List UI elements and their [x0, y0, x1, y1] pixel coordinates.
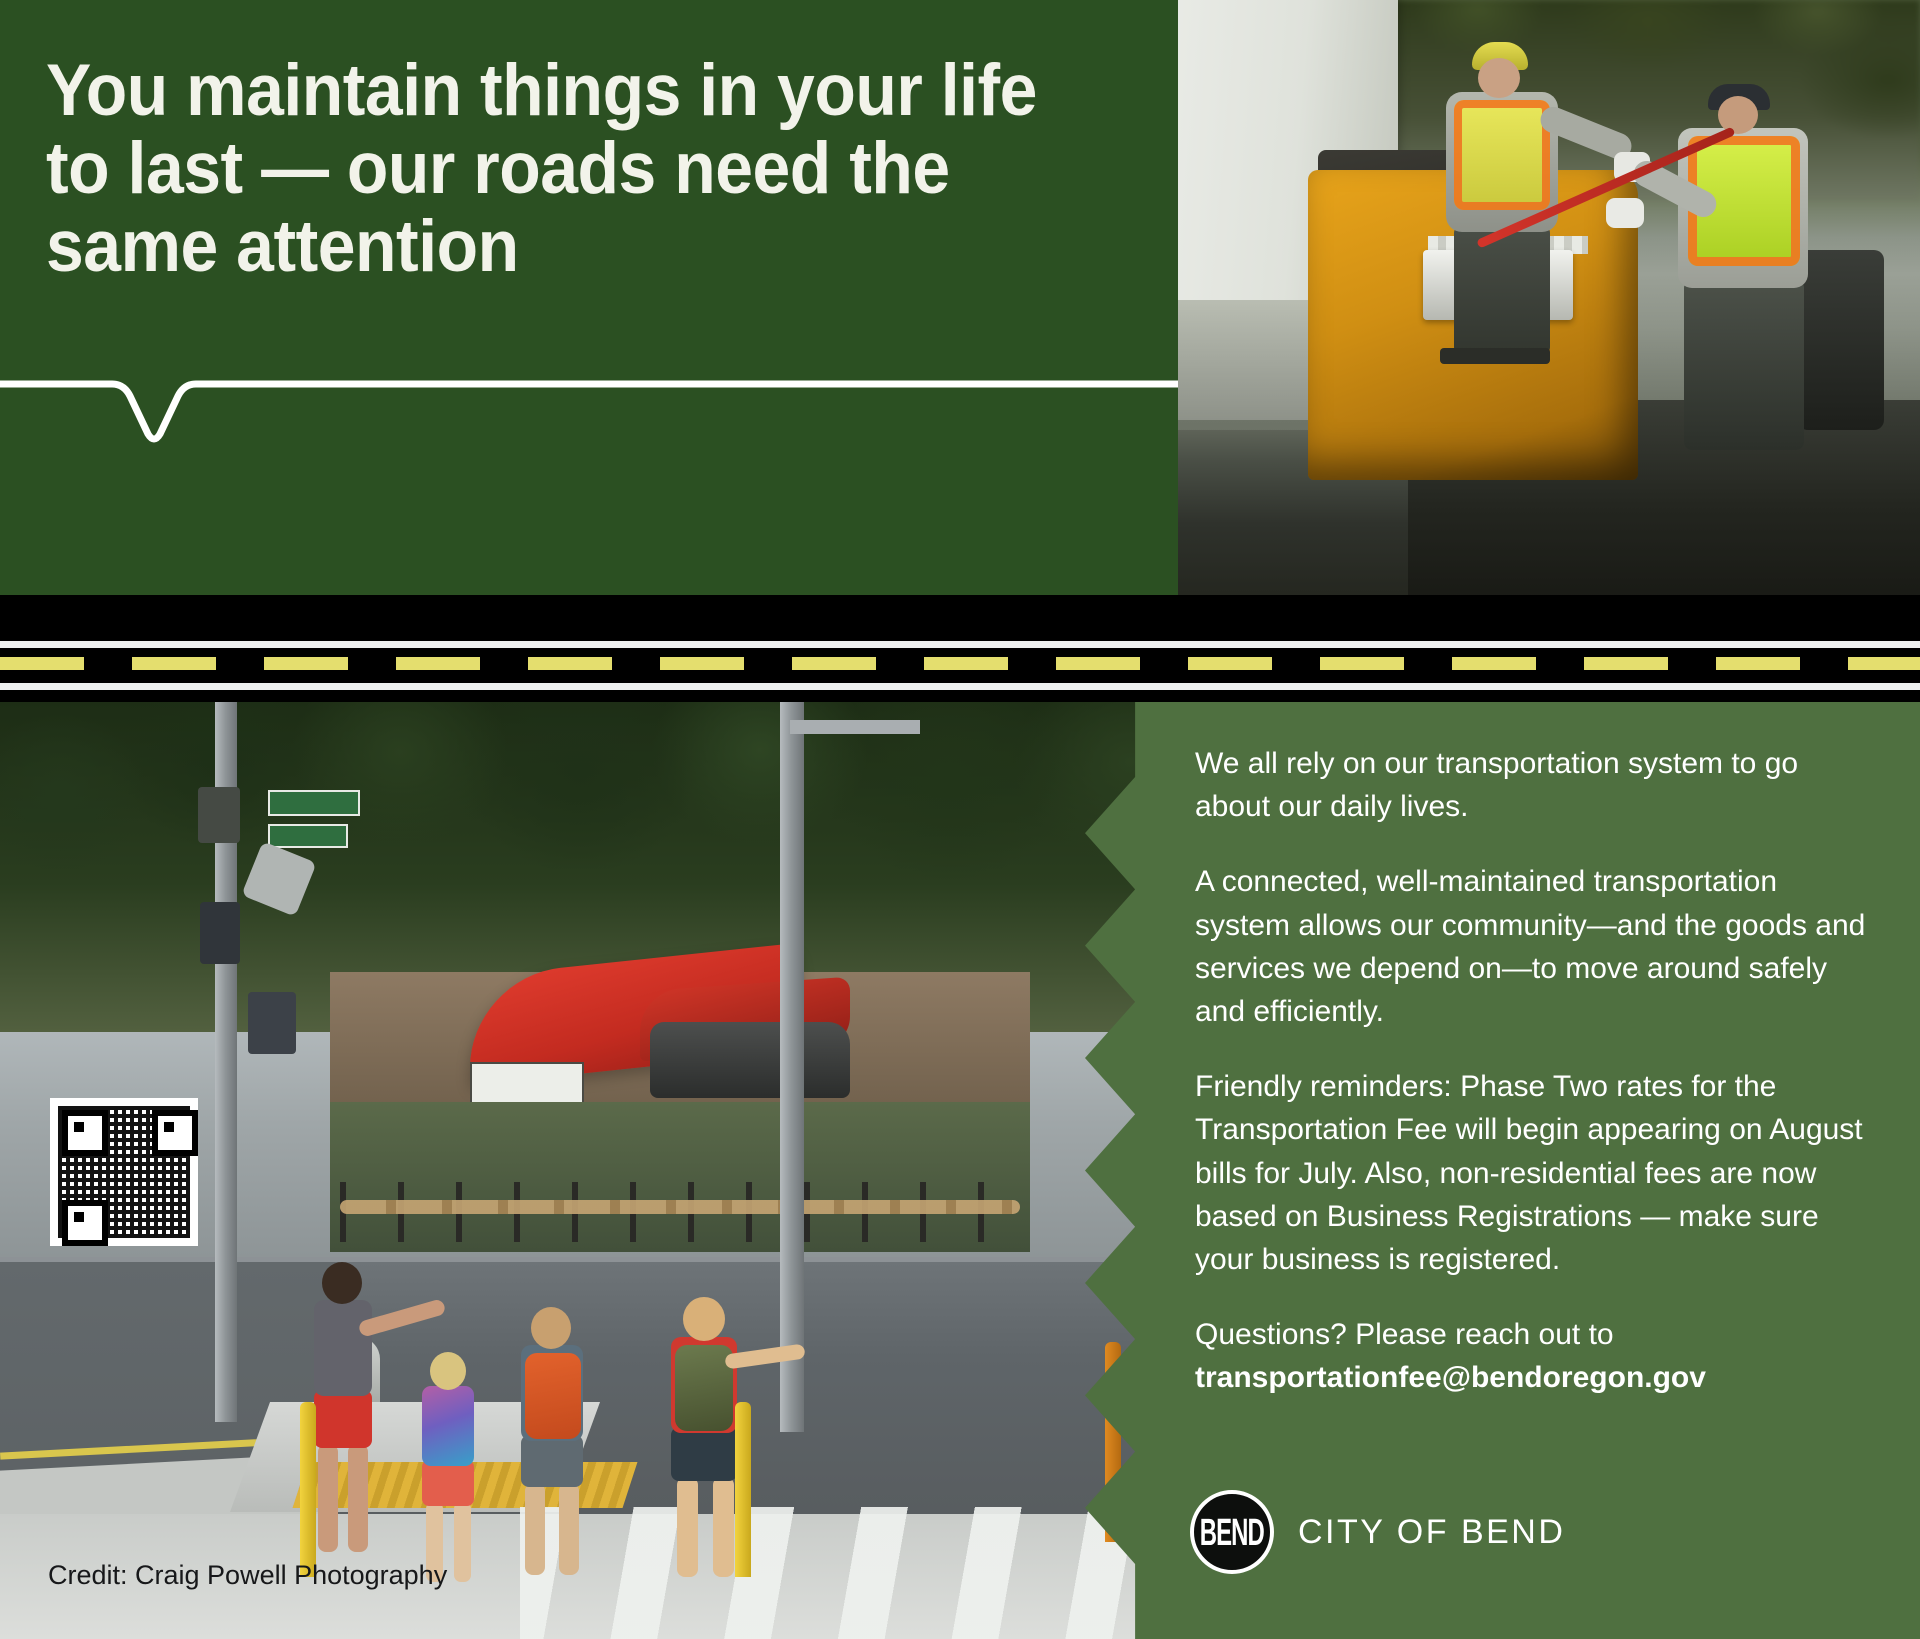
speech-bubble-rule: [0, 380, 1178, 452]
info-paragraph-2: A connected, well-maintained transportat…: [1195, 860, 1875, 1033]
bend-badge-icon: BEND: [1190, 1490, 1274, 1574]
road-divider: [0, 595, 1920, 702]
road-lane-line-bottom: [0, 683, 1920, 690]
pedestrian-child-2: [505, 1307, 601, 1577]
info-paragraph-3: Friendly reminders: Phase Two rates for …: [1195, 1065, 1875, 1281]
bend-badge-text: BEND: [1200, 1510, 1264, 1555]
road-center-dashes: [0, 657, 1920, 670]
photo-credit: Credit: Craig Powell Photography: [48, 1560, 447, 1591]
qr-code[interactable]: [50, 1098, 198, 1246]
road-lane-line-top: [0, 641, 1920, 648]
transportation-fee-poster: You maintain things in your life to last…: [0, 0, 1920, 1639]
ped-pushbutton-icon: [248, 992, 296, 1054]
qr-finder-top-left: [62, 1110, 108, 1156]
info-panel-text: We all rely on our transportation system…: [1195, 742, 1875, 1399]
hero-text-block: You maintain things in your life to last…: [0, 0, 1178, 595]
qr-finder-bottom-left: [62, 1200, 108, 1246]
bollard-icon-1: [300, 1402, 316, 1577]
page-title: You maintain things in your life to last…: [46, 52, 1078, 286]
signal-mast-arm: [790, 720, 920, 734]
city-of-bend-wordmark: CITY OF BEND: [1298, 1513, 1565, 1552]
street-sign-secondary: [268, 824, 348, 848]
signal-head-icon: [198, 787, 240, 843]
questions-lead: Questions? Please reach out to: [1195, 1318, 1614, 1351]
road-crew-photo: [1178, 0, 1920, 595]
contact-email[interactable]: transportationfee@bendoregon.gov: [1195, 1361, 1706, 1394]
info-paragraph-1: We all rely on our transportation system…: [1195, 742, 1875, 828]
bollard-icon-2: [735, 1402, 751, 1577]
hero-section: You maintain things in your life to last…: [0, 0, 1920, 608]
pedestrian-child-1: [410, 1352, 490, 1582]
traffic-pole-right: [780, 702, 804, 1432]
city-of-bend-logo: BEND CITY OF BEND: [1190, 1490, 1565, 1574]
pedestrian-signal-icon: [200, 902, 240, 964]
street-sign-primary: [268, 790, 360, 816]
info-section: We all rely on our transportation system…: [0, 702, 1920, 1639]
qr-finder-top-right: [152, 1110, 198, 1156]
info-questions: Questions? Please reach out to transport…: [1195, 1313, 1875, 1399]
